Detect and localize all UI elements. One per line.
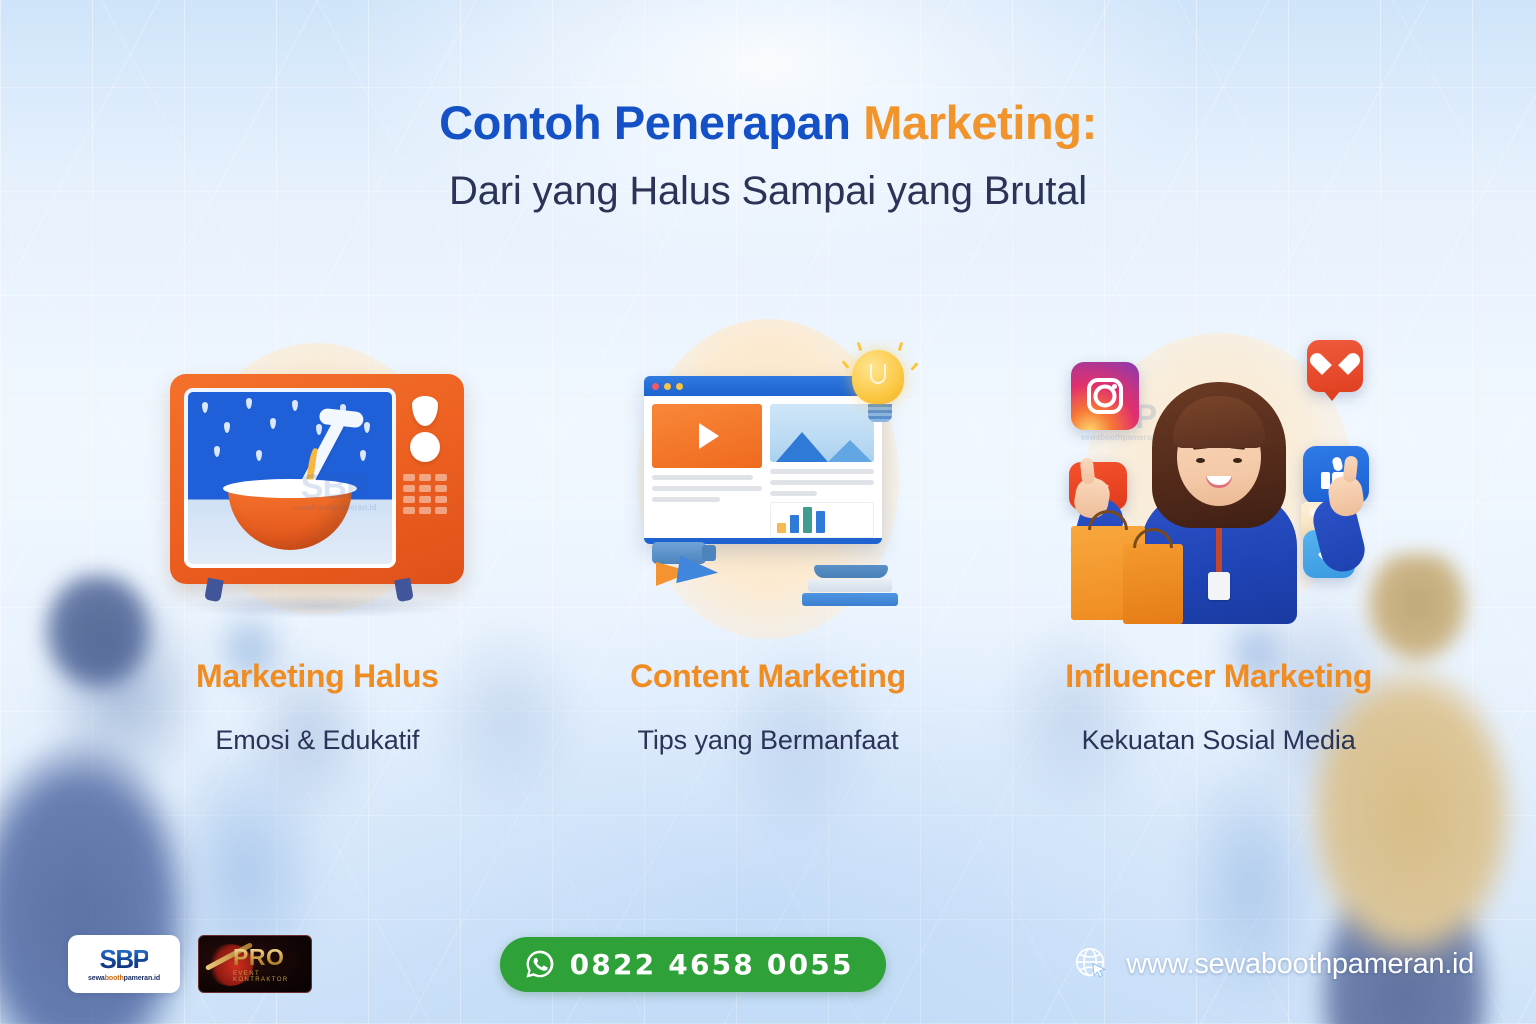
cards-row: SBP sewaboothpameran.id Marketing Halus …: [92, 318, 1444, 756]
play-icon: [699, 423, 719, 449]
browser-left-column: [652, 404, 762, 530]
logo-sbp-url-a: sewa: [88, 975, 105, 982]
card-1-subtitle: Emosi & Edukatif: [92, 725, 543, 756]
logo-sbp-mark: SBP: [100, 946, 149, 972]
instagram-icon: [1071, 362, 1139, 430]
lightbulb-icon: [852, 350, 908, 424]
influencer-thumb-left: [1079, 457, 1095, 484]
window-maximize-dot: [676, 383, 683, 390]
card-influencer-marketing: SBP sewaboothpameran.id: [993, 318, 1444, 756]
page-title: Contoh Penerapan Marketing:: [0, 98, 1536, 148]
card-3-title: Influencer Marketing: [993, 658, 1444, 695]
tv-knob-round: [410, 432, 440, 462]
whatsapp-number: 0822 4658 0055: [570, 948, 854, 981]
shopping-bag-small: [1123, 544, 1183, 624]
text-lines-right: [770, 469, 874, 496]
logo-sbp[interactable]: SBP sewaboothpameran.id: [68, 935, 180, 993]
logo-pro-main: PRO: [233, 946, 311, 969]
title-part-orange: Marketing:: [863, 96, 1097, 149]
title-part-blue: Contoh Penerapan: [439, 96, 863, 149]
retro-tv-icon: [170, 374, 464, 584]
bar-chart-icon: [770, 502, 874, 538]
bulb-base: [868, 404, 892, 422]
tv-control-panel: [398, 390, 452, 568]
card-content-marketing: Content Marketing Tips yang Bermanfaat: [543, 318, 994, 756]
whatsapp-icon: [524, 948, 556, 980]
tv-keypad: [403, 474, 447, 514]
card-2-subtitle: Tips yang Bermanfaat: [543, 725, 994, 756]
logo-sbp-url-c: pameran.id: [124, 975, 160, 982]
id-badge: [1208, 572, 1230, 600]
influencer-illustration: SBP sewaboothpameran.id: [1069, 334, 1369, 624]
poster-canvas: Contoh Penerapan Marketing: Dari yang Ha…: [0, 0, 1536, 1024]
browser-title-bar: [644, 376, 882, 396]
website-url: www.sewaboothpameran.id: [1126, 948, 1474, 981]
paper-plane-icon: [656, 554, 734, 598]
logo-pro-text: PRO EVENT KONTRAKTOR: [233, 946, 311, 983]
text-lines-left: [652, 475, 762, 502]
card-3-subtitle: Kekuatan Sosial Media: [993, 725, 1444, 756]
logo-pro-sub: EVENT KONTRAKTOR: [233, 971, 311, 983]
card-marketing-halus: SBP sewaboothpameran.id Marketing Halus …: [92, 318, 543, 756]
card-2-title: Content Marketing: [543, 658, 994, 695]
tv-knob-diamond: [412, 396, 438, 426]
books-stack-icon: [802, 550, 898, 606]
content-marketing-icon: [634, 354, 902, 604]
whatsapp-contact-button[interactable]: 0822 4658 0055: [500, 937, 886, 992]
logo-sbp-url-b: booth: [105, 975, 124, 982]
heart-reaction-icon: [1307, 340, 1363, 392]
window-minimize-dot: [664, 383, 671, 390]
globe-cursor-icon: [1073, 945, 1111, 983]
browser-window: [644, 376, 882, 544]
footer-bar: SBP sewaboothpameran.id PRO EVENT KONTRA…: [0, 926, 1536, 1002]
logo-pro[interactable]: PRO EVENT KONTRAKTOR: [198, 935, 312, 993]
card-3-artwork: SBP sewaboothpameran.id: [993, 318, 1444, 640]
card-2-artwork: [543, 318, 994, 640]
video-player-thumbnail: [652, 404, 762, 468]
page-subtitle: Dari yang Halus Sampai yang Brutal: [0, 169, 1536, 213]
bulb-filament: [870, 364, 886, 384]
footer-logos: SBP sewaboothpameran.id PRO EVENT KONTRA…: [68, 935, 312, 993]
tv-screen: [184, 388, 396, 568]
card-1-artwork: SBP sewaboothpameran.id: [92, 318, 543, 640]
logo-sbp-url: sewaboothpameran.id: [88, 975, 160, 982]
window-close-dot: [652, 383, 659, 390]
noodle-bowl-icon: [228, 488, 352, 550]
browser-content: [644, 396, 882, 538]
card-1-title: Marketing Halus: [92, 658, 543, 695]
website-link[interactable]: www.sewaboothpameran.id: [1073, 945, 1474, 983]
bulb-glass: [852, 350, 904, 404]
heading-block: Contoh Penerapan Marketing: Dari yang Ha…: [0, 98, 1536, 213]
